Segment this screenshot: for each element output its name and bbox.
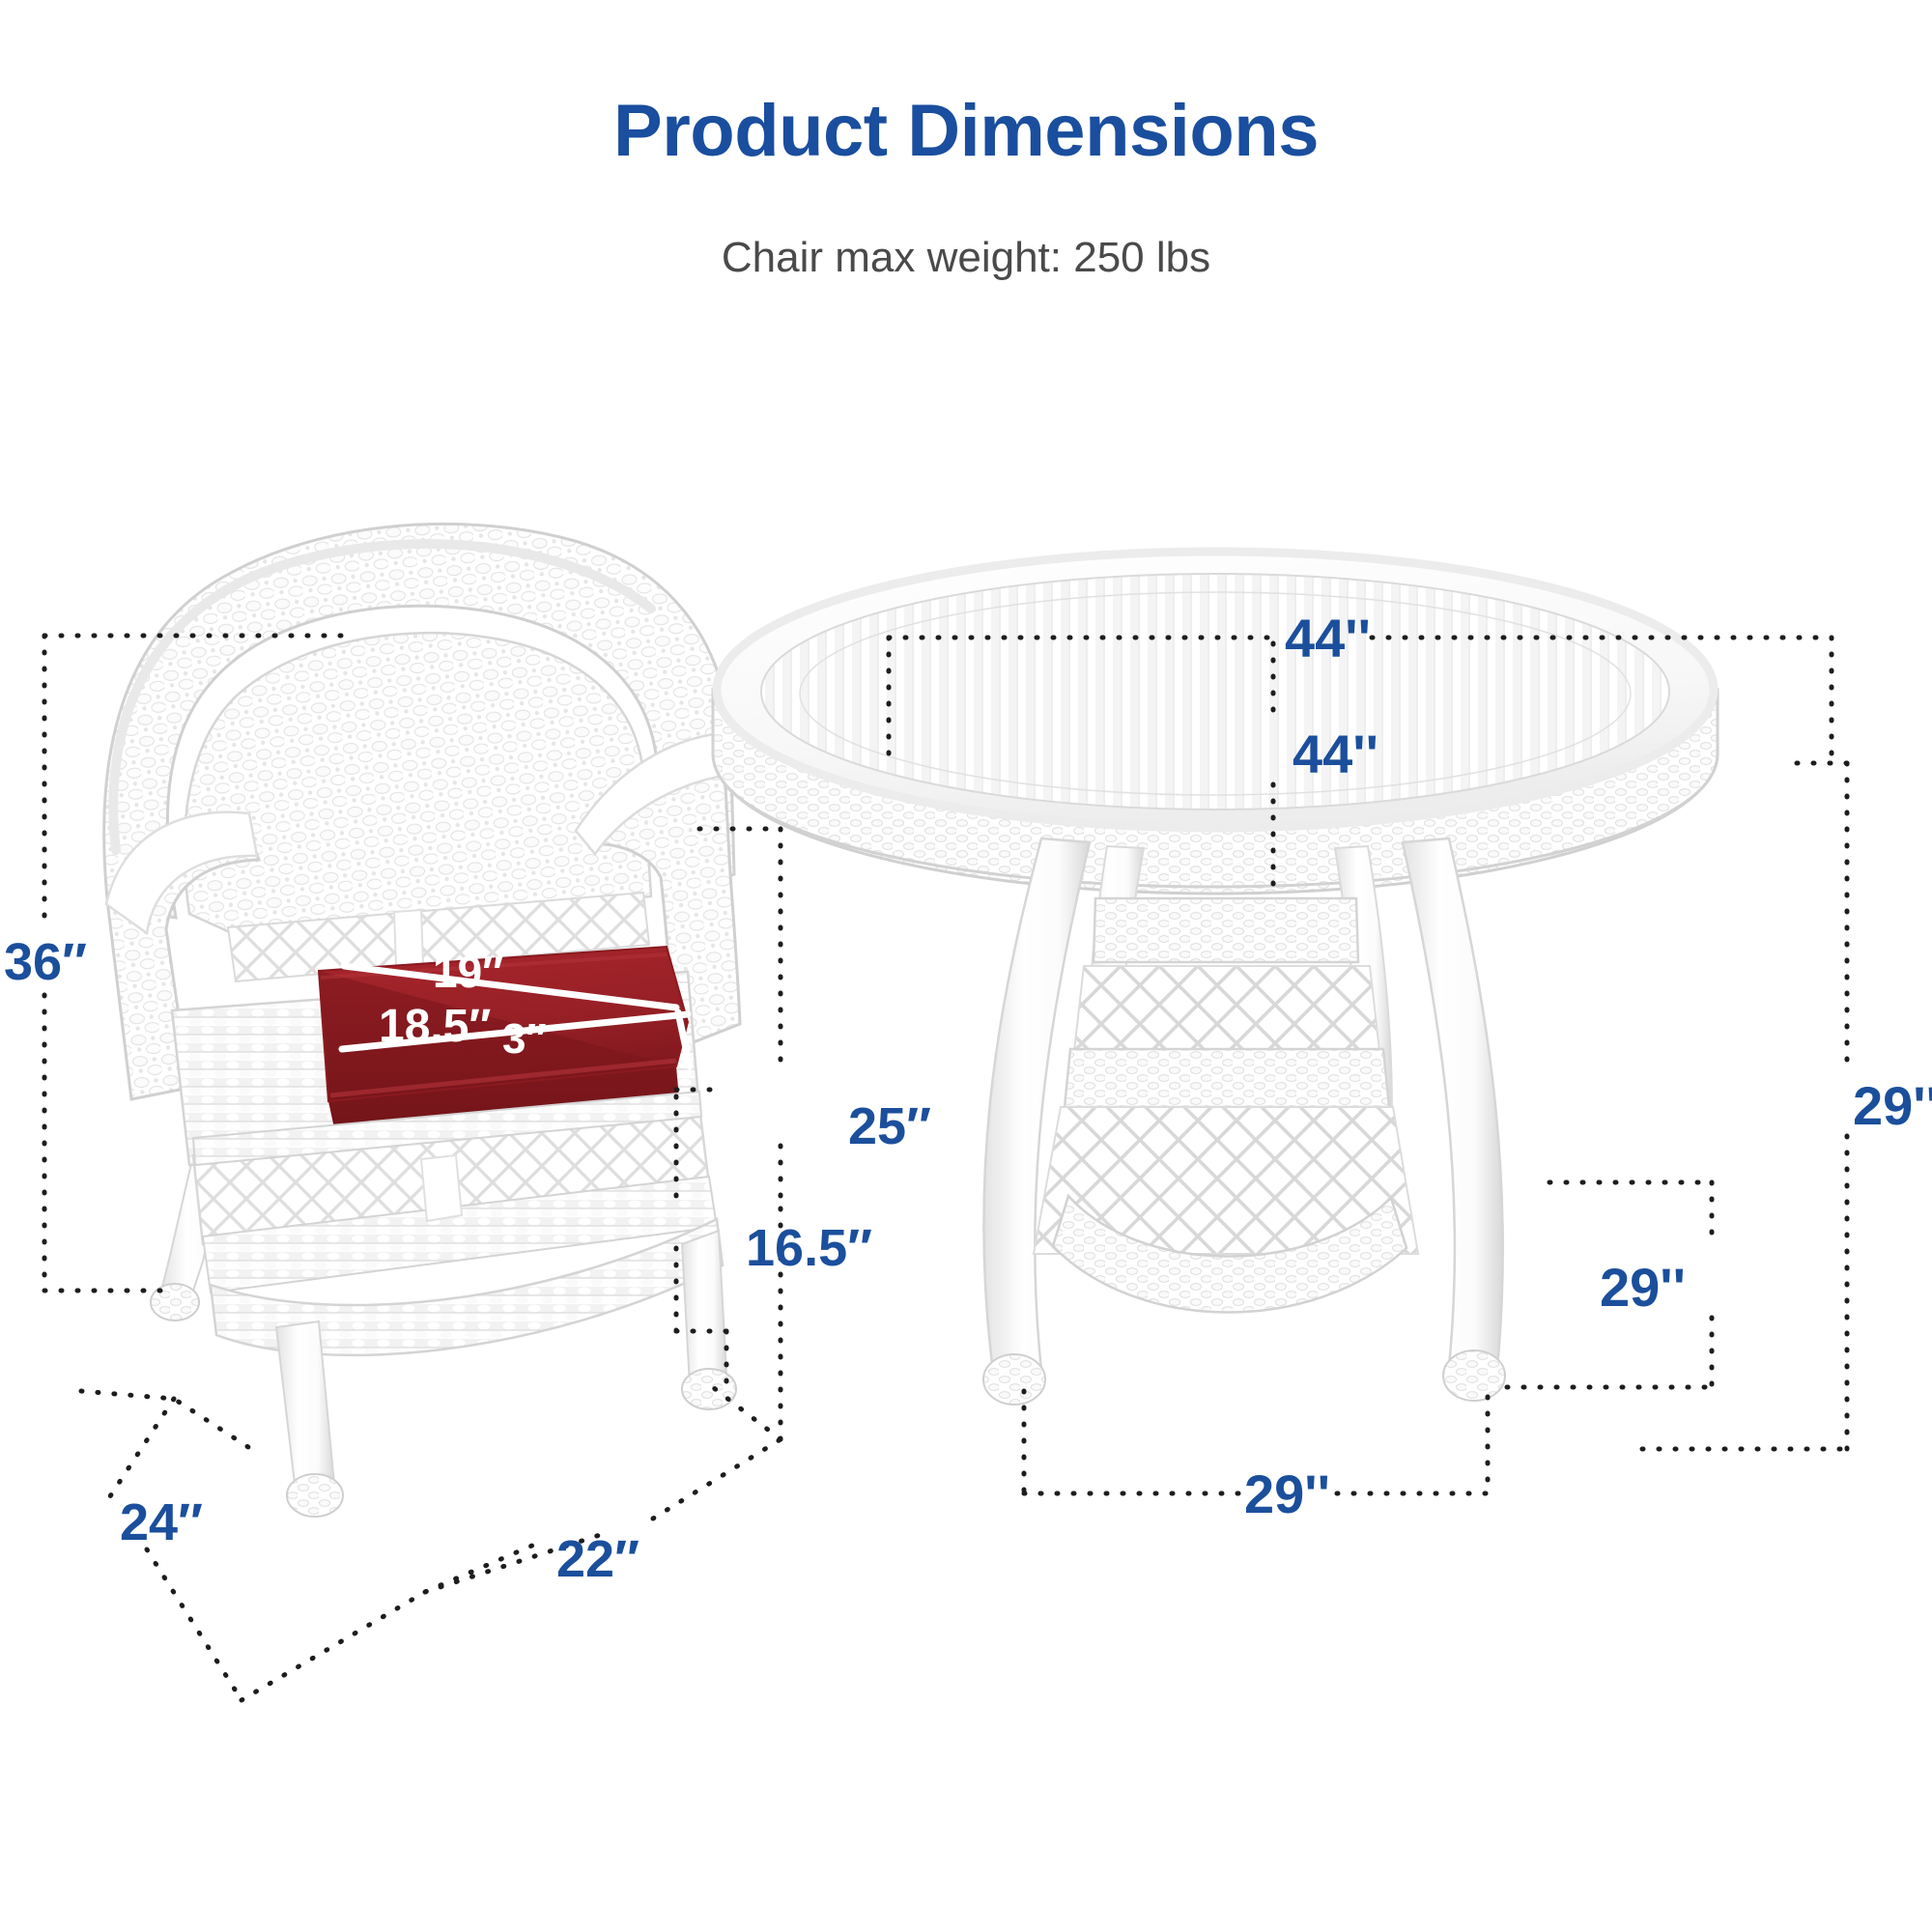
diagram-canvas: Product Dimensions Chair max weight: 250… <box>0 0 1932 1932</box>
table-depth-label: 44'' <box>1293 724 1378 784</box>
chair-seat-height-label: 16.5″ <box>746 1219 872 1277</box>
table-base-height-label: 29'' <box>1600 1257 1686 1318</box>
chair-width-label: 22″ <box>556 1530 639 1588</box>
chair-seat-height-back-label: 25″ <box>848 1097 931 1155</box>
cushion-width-label: 18.5″ <box>379 1001 491 1052</box>
table-base-width-label: 29'' <box>1244 1463 1330 1524</box>
table-width-label: 44'' <box>1285 608 1371 668</box>
chair-depth-label: 24″ <box>120 1493 203 1551</box>
cushion-depth-label: 19″ <box>433 947 503 997</box>
chair-height-label: 36″ <box>4 933 87 991</box>
cushion-thickness-label: 3″ <box>502 1015 547 1063</box>
product-dimension-illustration: 19″ 18.5″ 3″ <box>0 0 1932 1932</box>
table-illustration: 44'' 44'' 29'' 29'' 29'' <box>713 552 1932 1524</box>
table-top <box>713 552 1718 894</box>
table-height-label: 29'' <box>1853 1075 1932 1136</box>
